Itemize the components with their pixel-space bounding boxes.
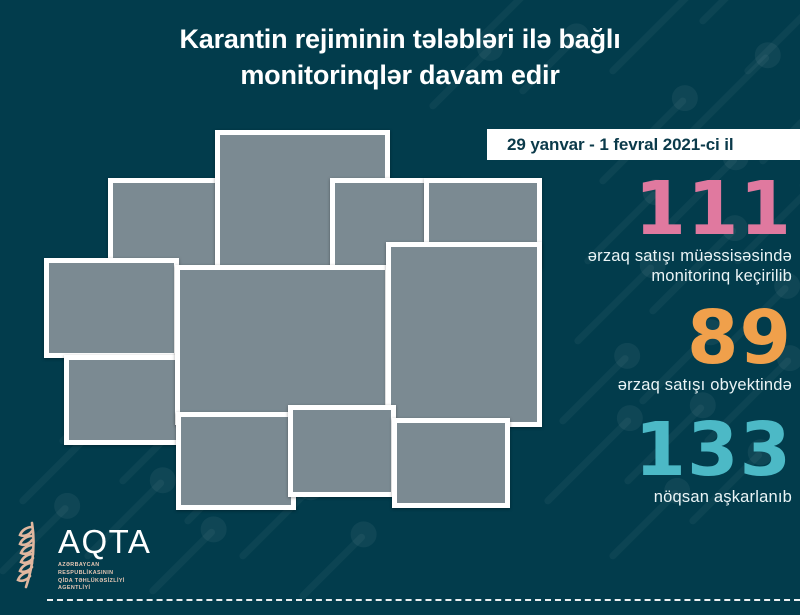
stat-label-111-line1: ərzaq satışı müəssisəsində — [500, 246, 792, 266]
stat-block-monitoring: 111 ərzaq satışı müəssisəsində monitorin… — [500, 175, 792, 286]
aqta-logo: AQTA AZƏRBAYCAN RESPUBLİKASININ QİDA TƏH… — [14, 519, 151, 593]
stat-value-133: 133 — [500, 416, 792, 484]
date-banner-text: 29 yanvar - 1 fevral 2021-ci il — [507, 135, 734, 155]
footer-dashed-divider — [47, 599, 800, 601]
date-banner: 29 yanvar - 1 fevral 2021-ci il — [487, 129, 800, 160]
photo-butcher-counter-inspection — [175, 265, 390, 425]
infographic-poster: Karantin rejiminin tələbləri ilə bağlı m… — [0, 0, 800, 615]
aqta-logo-text: AQTA AZƏRBAYCAN RESPUBLİKASININ QİDA TƏH… — [58, 519, 151, 593]
stat-label-89-line1: ərzaq satışı obyektində — [500, 375, 792, 395]
aqta-subtitle-line-2: RESPUBLİKASININ — [58, 570, 151, 578]
stat-block-violations: 133 nöqsan aşkarlanıb — [500, 416, 792, 507]
aqta-subtitle-line-4: AGENTLİYİ — [58, 585, 151, 593]
stat-value-89: 89 — [500, 304, 792, 372]
stat-value-111: 111 — [500, 175, 792, 243]
statistics-panel: 111 ərzaq satışı müəssisəsində monitorin… — [500, 175, 792, 515]
photo-woman-faceshield-checkout — [64, 355, 184, 445]
photo-produce-section-checking — [44, 258, 179, 358]
stat-block-objects: 89 ərzaq satışı obyektində — [500, 304, 792, 395]
photo-supermarket-queue-monitoring — [176, 412, 296, 510]
photo-kitchen-staff-tablet-review — [392, 418, 510, 508]
aqta-wordmark: AQTA — [58, 525, 151, 558]
stat-label-111-line2: monitorinq keçirilib — [500, 266, 792, 286]
photo-shoppers-snack-aisle — [288, 405, 396, 497]
aqta-subtitle-line-1: AZƏRBAYCAN — [58, 562, 151, 570]
wheat-stalk-icon — [14, 519, 50, 591]
